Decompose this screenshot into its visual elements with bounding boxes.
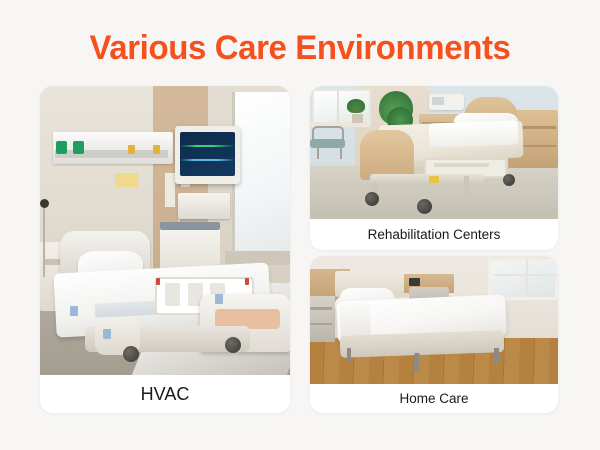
card-home-care[interactable]: Home Care bbox=[310, 256, 558, 413]
card-caption-hvac: HVAC bbox=[40, 375, 290, 413]
page-title: Various Care Environments bbox=[9, 28, 591, 68]
card-caption-home-care: Home Care bbox=[310, 384, 558, 413]
card-caption-rehabilitation-centers: Rehabilitation Centers bbox=[310, 219, 558, 250]
card-hvac[interactable]: HVAC bbox=[40, 86, 290, 413]
rehabilitation-room-image bbox=[310, 86, 558, 219]
home-care-room-image bbox=[310, 256, 558, 384]
gallery-column-right: Rehabilitation Centers Home Care bbox=[310, 86, 558, 413]
hospital-room-image bbox=[40, 86, 290, 375]
card-rehabilitation-centers[interactable]: Rehabilitation Centers bbox=[310, 86, 558, 250]
gallery-column-left: HVAC bbox=[40, 86, 290, 413]
care-environments-gallery: HVAC Reha bbox=[40, 86, 558, 413]
